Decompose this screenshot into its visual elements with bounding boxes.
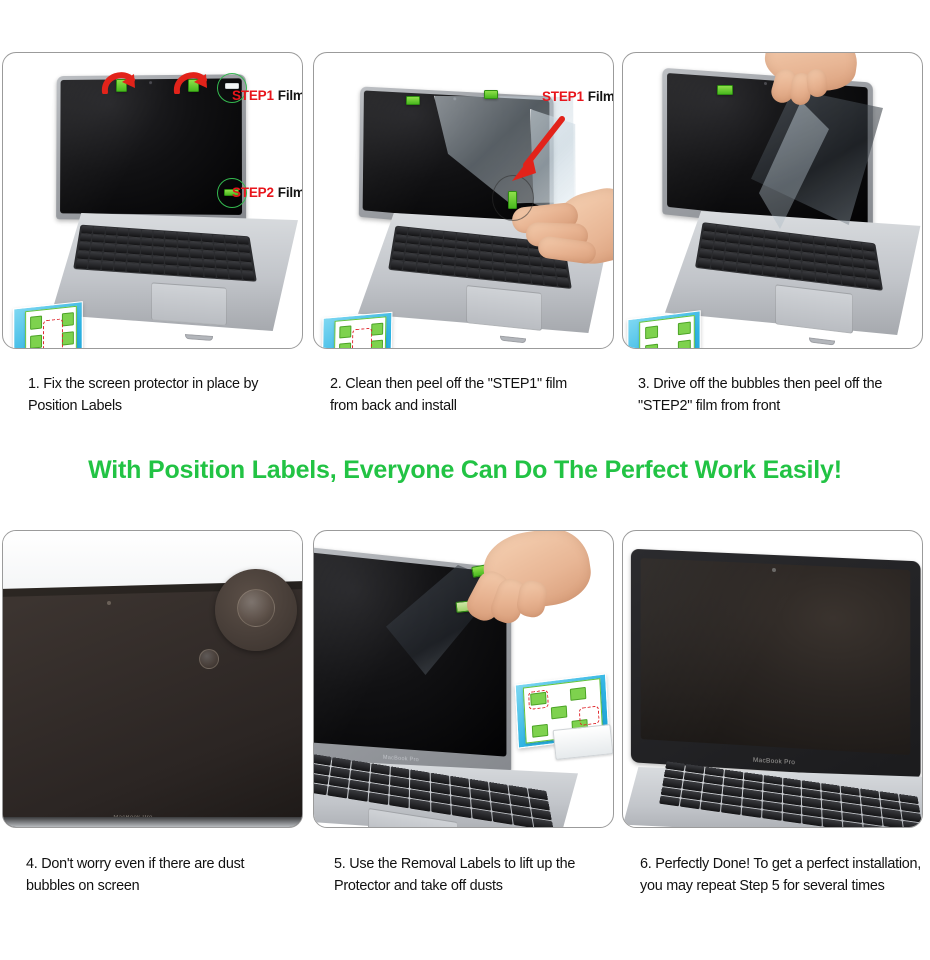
step1-film-callout: STEP1Film xyxy=(232,88,302,103)
headline-banner: With Position Labels, Everyone Can Do Th… xyxy=(0,456,930,485)
label-sticker-card xyxy=(639,315,695,348)
step2-film-callout: STEP2Film xyxy=(232,185,302,200)
label-sticker-card xyxy=(334,316,387,348)
scene-hand-peeling-step2-film: MacBook Pro xyxy=(623,53,922,348)
label-dashed-outline xyxy=(352,328,372,348)
step1-film-word: Film xyxy=(278,88,302,103)
instruction-sheet: MacBook Pro xyxy=(0,0,930,960)
position-label-tab-1 xyxy=(406,96,420,105)
caption-step-5: 5. Use the Removal Labels to lift up the… xyxy=(334,854,606,898)
webcam-icon xyxy=(107,601,111,605)
step-panel-4: MacBook Pro xyxy=(2,530,303,828)
scene-laptop-with-position-labels: MacBook Pro xyxy=(3,53,302,348)
dust-bubble-magnified xyxy=(237,589,275,627)
step-panel-2: MacBook Pro xyxy=(313,52,614,349)
scene-finished-laptop: MacBook Pro xyxy=(623,531,922,827)
trackpad xyxy=(151,282,227,325)
red-arrow-icon-1 xyxy=(101,68,137,94)
position-label-card-2 xyxy=(322,312,393,348)
webcam-icon xyxy=(772,568,776,572)
trackpad xyxy=(775,284,853,334)
step-panel-1: MacBook Pro xyxy=(2,52,303,349)
step1-label: STEP1 xyxy=(542,89,584,104)
caption-step-3: 3. Drive off the bubbles then peel off t… xyxy=(638,374,918,418)
laptop-lid: MacBook Pro xyxy=(631,549,921,780)
scene-hand-lifting-protector: MacBook Pro xyxy=(314,531,613,827)
hand-illustration xyxy=(450,535,590,645)
laptop-screen xyxy=(641,558,911,755)
caption-step-2: 2. Clean then peel off the "STEP1" film … xyxy=(330,374,598,418)
webcam-icon xyxy=(149,81,152,84)
label-dashed-outline-right xyxy=(579,705,600,725)
cleaning-wipe xyxy=(553,724,613,760)
scene-macro-dust-bubbles: MacBook Pro xyxy=(3,531,302,827)
laptop-base-edge xyxy=(3,817,302,827)
lid-release-notch xyxy=(185,334,213,341)
red-arrow-icon xyxy=(504,113,568,183)
step2-film-word: Film xyxy=(278,185,302,200)
label-sticker-card xyxy=(25,306,77,348)
position-label-tab-2 xyxy=(484,90,498,99)
lid-release-notch xyxy=(500,336,526,344)
caption-step-4: 4. Don't worry even if there are dust bu… xyxy=(26,854,282,898)
step-panel-6: MacBook Pro xyxy=(622,530,923,828)
hand-illustration xyxy=(747,53,867,119)
position-label-tab-1 xyxy=(717,85,733,95)
step1-film-word: Film xyxy=(588,89,613,104)
scene-hand-peeling-step1-film: MacBook Pro xyxy=(314,53,613,348)
step1-label: STEP1 xyxy=(232,88,274,103)
red-arrow-icon-2 xyxy=(173,68,209,94)
label-dashed-outline-left xyxy=(528,690,549,710)
caption-step-6: 6. Perfectly Done! To get a perfect inst… xyxy=(640,854,922,898)
step1-film-callout: STEP1Film xyxy=(542,89,613,104)
magnifier-callout xyxy=(215,569,297,651)
lid-release-notch xyxy=(809,337,835,345)
caption-step-1: 1. Fix the screen protector in place by … xyxy=(28,374,286,418)
label-dashed-outline xyxy=(43,318,63,348)
position-label-card-1 xyxy=(13,301,83,348)
dust-bubble-on-screen xyxy=(199,649,219,669)
step-panel-5: MacBook Pro xyxy=(313,530,614,828)
laptop-screen xyxy=(60,78,242,215)
step2-label: STEP2 xyxy=(232,185,274,200)
step-panel-3: MacBook Pro xyxy=(622,52,923,349)
laptop-illustration: MacBook Pro xyxy=(623,531,922,827)
